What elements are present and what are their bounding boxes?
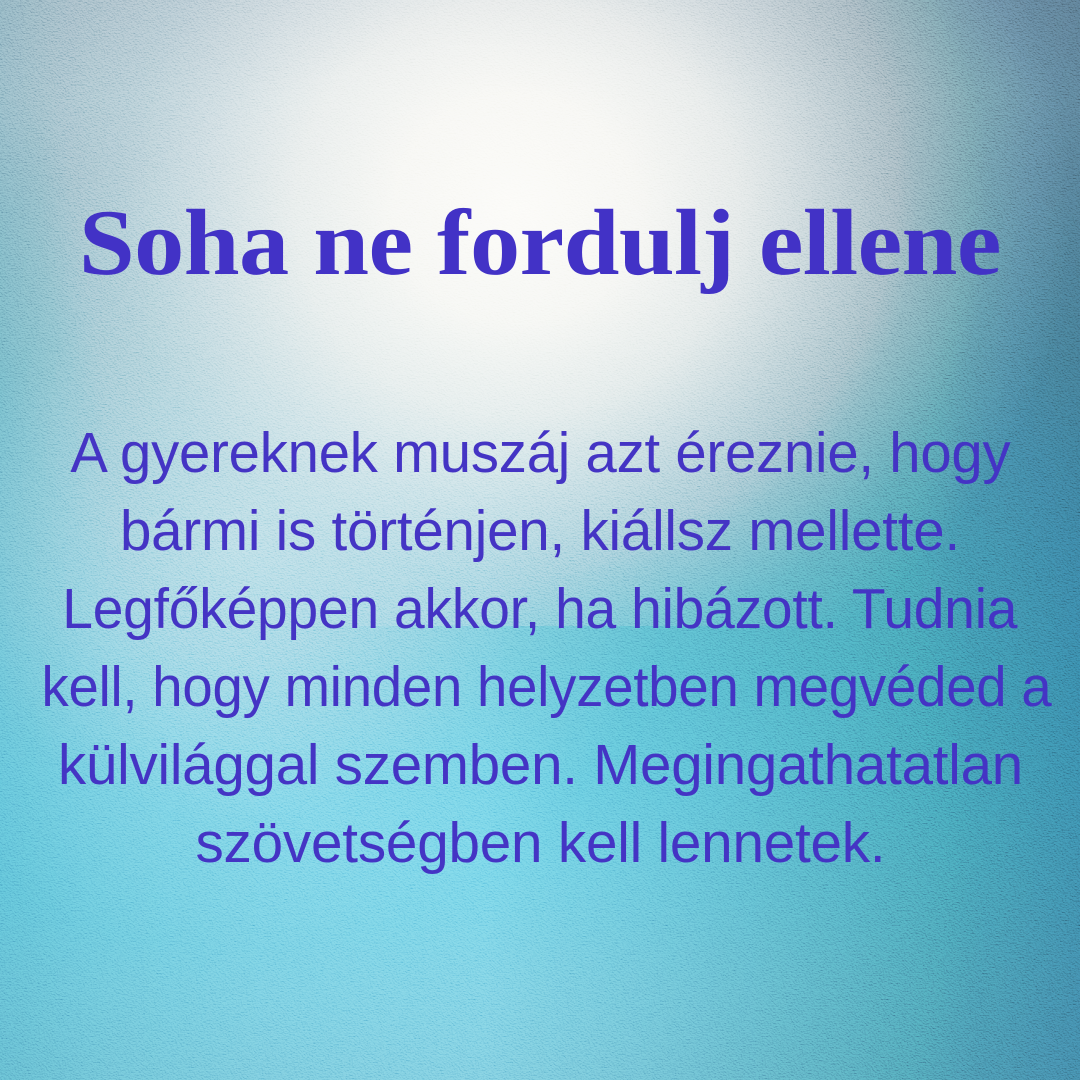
- text-content: Soha ne fordulj ellene A gyereknek muszá…: [0, 0, 1080, 1080]
- headline: Soha ne fordulj ellene: [60, 196, 1020, 290]
- body-line: A gyereknek muszáj azt éreznie, hogy: [70, 414, 1010, 492]
- body-line: szövetségben kell lennetek.: [195, 804, 885, 882]
- body-line: Legfőképpen akkor, ha hibázott. Tudnia: [62, 570, 1017, 648]
- body-copy: A gyereknek muszáj azt éreznie, hogy bár…: [18, 414, 1062, 882]
- body-line: külvilággal szemben. Megingathatatlan: [57, 726, 1022, 804]
- body-line: kell, hogy minden helyzetben megvéded a: [41, 648, 1051, 726]
- body-line: bármi is történjen, kiállsz mellette.: [120, 492, 960, 570]
- quote-card: Soha ne fordulj ellene A gyereknek muszá…: [0, 0, 1080, 1080]
